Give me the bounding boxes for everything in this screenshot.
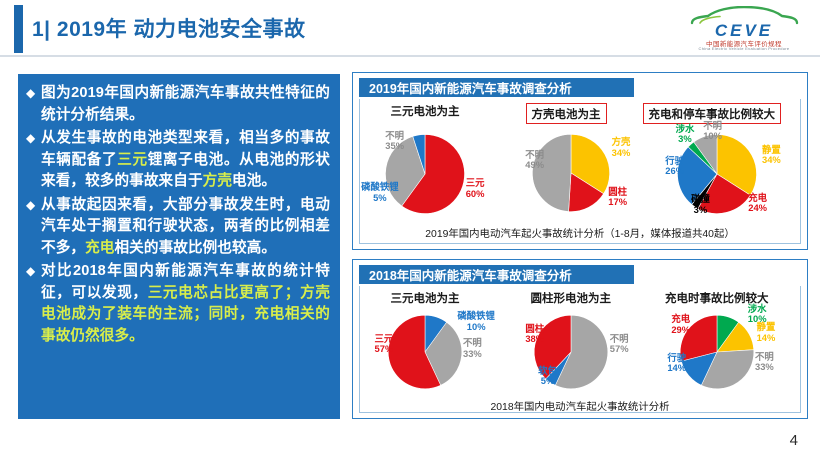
- diamond-bullet-icon: ◆: [26, 261, 41, 347]
- pie-chart: [385, 312, 465, 392]
- pie-label: 行驶26%: [665, 156, 684, 177]
- pie-label: 磷酸铁锂10%: [457, 311, 495, 332]
- pie-label: 充电29%: [671, 314, 690, 335]
- pie-label: 不明57%: [610, 334, 629, 355]
- highlighted-phrase: 方壳: [203, 173, 232, 189]
- text-segment: 相关的事故比例也较高。: [114, 240, 276, 256]
- pie-label: 不明33%: [463, 338, 482, 359]
- ceve-logo: CEVE 中国新能源汽车评价规程 China Electric Vehicle …: [686, 6, 802, 52]
- pie-label: 圆柱38%: [525, 324, 544, 345]
- chart-card-2018: 2018年国内新能源汽车事故调查分析 三元电池为主圆柱形电池为主充电时事故比例较…: [352, 259, 808, 419]
- highlighted-phrase: 充电: [85, 240, 114, 256]
- bullet-item: ◆从事故起因来看，大部分事故发生时，电动汽车处于搁置和行驶状态，两者的比例相差不…: [26, 195, 330, 260]
- pie-label: 不明49%: [525, 150, 544, 171]
- pie-label: 圆柱17%: [608, 187, 627, 208]
- highlighted-phrase: 三元: [117, 152, 147, 168]
- bullet-text: 从事故起因来看，大部分事故发生时，电动汽车处于搁置和行驶状态，两者的比例相差不多…: [41, 195, 330, 260]
- bullet-item: ◆图为2019年国内新能源汽车事故共性特征的统计分析结果。: [26, 83, 330, 126]
- pie-chart: [529, 131, 613, 215]
- pie-chart-container-1: [385, 312, 465, 392]
- column-title-2: 方壳电池为主: [526, 103, 607, 124]
- bullet-text: 从发生事故的电池类型来看，相当多的事故车辆配备了三元锂离子电池。从电池的形状来看…: [41, 128, 330, 193]
- summary-text-panel: ◆图为2019年国内新能源汽车事故共性特征的统计分析结果。◆从发生事故的电池类型…: [18, 74, 340, 419]
- pie-label: 不明35%: [385, 131, 404, 152]
- diamond-bullet-icon: ◆: [26, 195, 41, 260]
- pie-chart-container-2: [529, 131, 613, 215]
- column-title-1: 三元电池为主: [391, 103, 460, 119]
- pie-label: 静置14%: [757, 322, 776, 343]
- bullet-item: ◆从发生事故的电池类型来看，相当多的事故车辆配备了三元锂离子电池。从电池的形状来…: [26, 128, 330, 193]
- header-accent-bar: [14, 5, 23, 53]
- column-title-2: 圆柱形电池为主: [531, 290, 612, 306]
- diamond-bullet-icon: ◆: [26, 128, 41, 193]
- card-2019-title: 2019年国内新能源汽车事故调查分析: [359, 78, 634, 97]
- pie-label: 三元60%: [466, 178, 485, 199]
- card-2018-title: 2018年国内新能源汽车事故调查分析: [359, 265, 634, 284]
- pie-label: 不明10%: [703, 121, 722, 142]
- logo-english-name: China Electric Vehicle Evaluation Proced…: [686, 46, 802, 51]
- text-segment: 电池。: [232, 173, 276, 189]
- page-title: 1| 2019年 动力电池安全事故: [32, 13, 305, 43]
- bullet-item: ◆对比2018年国内新能源汽车事故的统计特征，可以发现，三元电芯占比更高了；方壳…: [26, 261, 330, 347]
- diamond-bullet-icon: ◆: [26, 83, 41, 126]
- pie-label: 碰撞3%: [691, 194, 710, 215]
- chart-caption: 2019年国内电动汽车起火事故统计分析（1-8月，媒体报道共40起）: [353, 225, 807, 240]
- text-segment: 图为2019年国内新能源汽车事故共性特征的统计分析结果。: [41, 85, 330, 123]
- page-header: 1| 2019年 动力电池安全事故 CEVE 中国新能源汽车评价规程 China…: [0, 0, 820, 58]
- chart-caption: 2018年国内电动汽车起火事故统计分析: [353, 398, 807, 413]
- pie-slice-不明: [532, 134, 571, 211]
- bullet-text: 图为2019年国内新能源汽车事故共性特征的统计分析结果。: [41, 83, 330, 126]
- pie-label: 方壳34%: [612, 137, 631, 158]
- pie-label: 软包5%: [538, 366, 557, 387]
- pie-label: 充电24%: [748, 193, 767, 214]
- header-divider: [0, 55, 820, 57]
- chart-card-2019: 2019年国内新能源汽车事故调查分析 三元电池为主方壳电池为主充电和停车事故比例…: [352, 72, 808, 250]
- page-number: 4: [790, 432, 798, 449]
- pie-label: 磷酸铁锂5%: [361, 182, 399, 203]
- pie-label: 涉水3%: [676, 124, 695, 145]
- pie-label: 静置34%: [762, 145, 781, 166]
- column-title-1: 三元电池为主: [391, 290, 460, 306]
- pie-label: 三元57%: [375, 334, 394, 355]
- pie-label: 行驶14%: [667, 353, 686, 374]
- bullet-text: 对比2018年国内新能源汽车事故的统计特征，可以发现，三元电芯占比更高了；方壳电…: [41, 261, 330, 347]
- pie-label: 不明33%: [755, 352, 774, 373]
